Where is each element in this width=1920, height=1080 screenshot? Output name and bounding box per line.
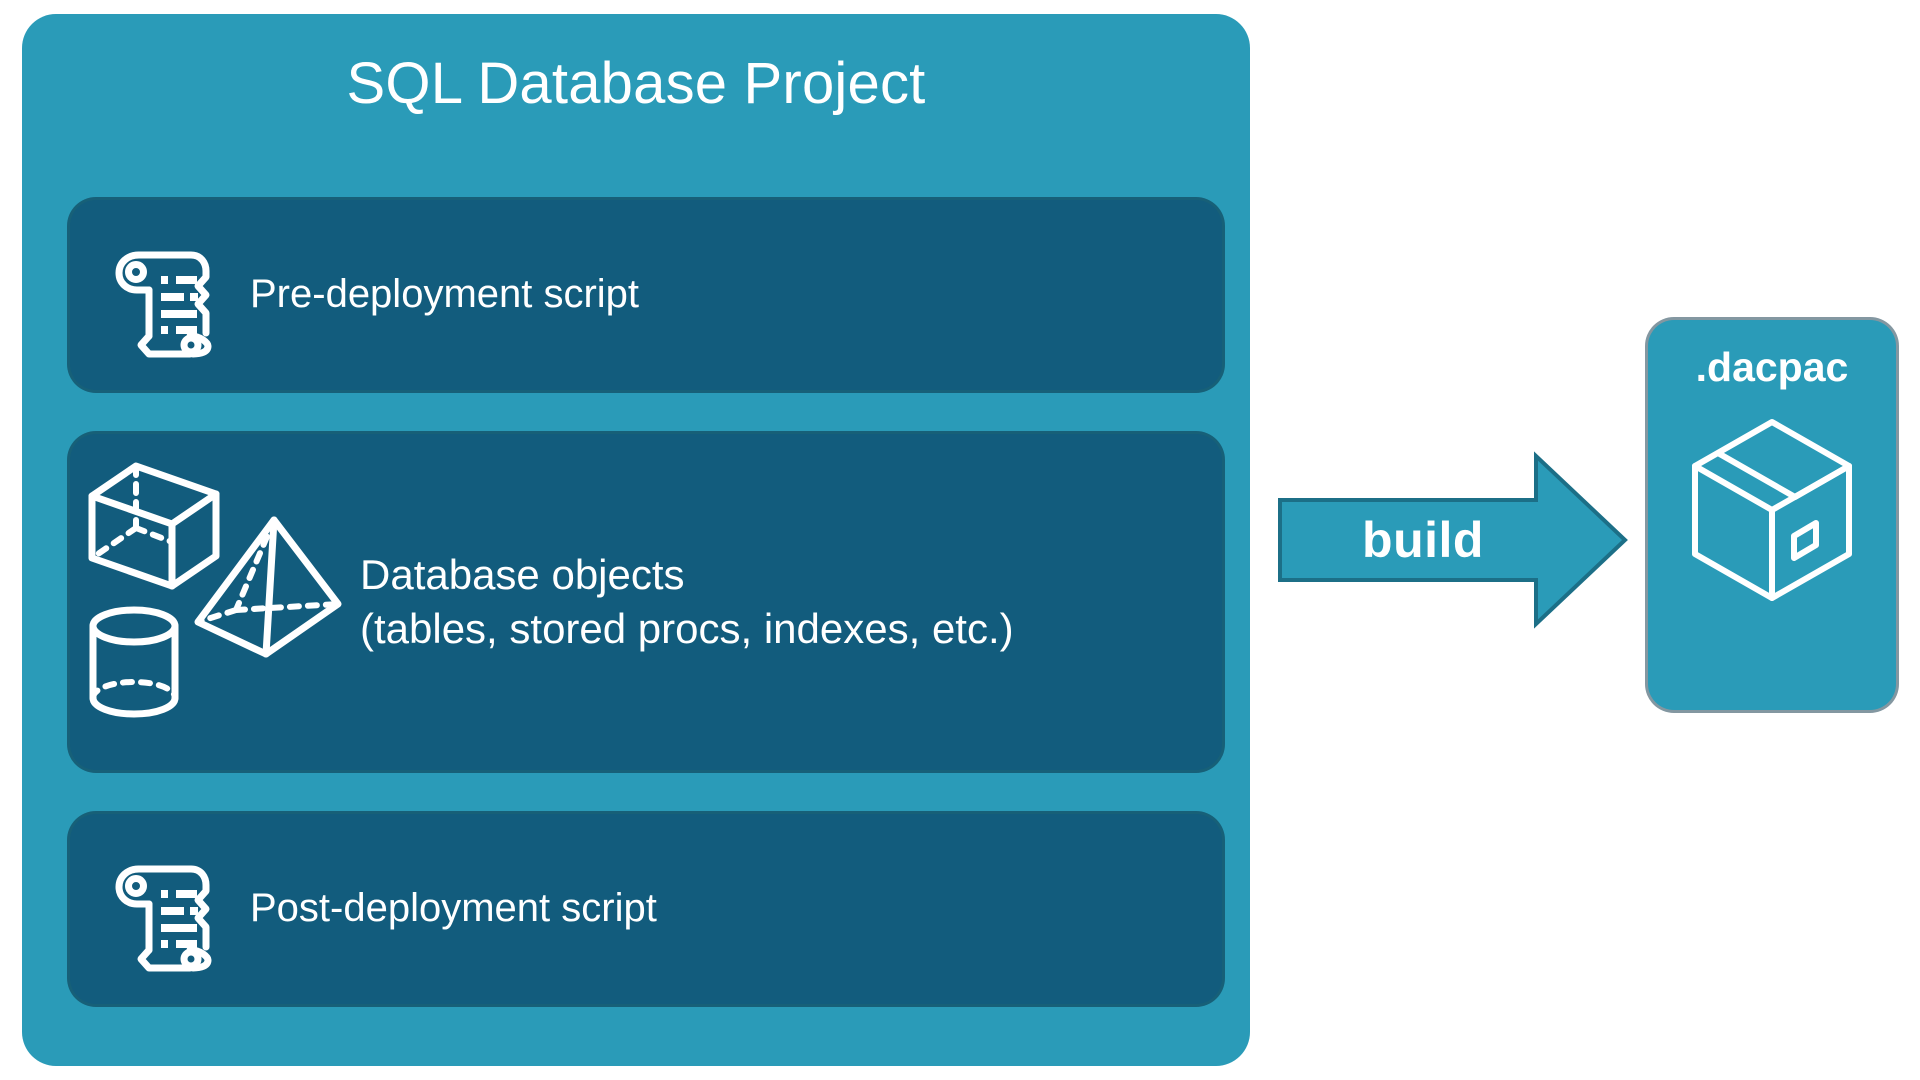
build-arrow-icon bbox=[1278, 452, 1628, 628]
pyramid-wireframe-icon bbox=[190, 512, 345, 662]
pre-deployment-script-card[interactable]: Pre-deployment script bbox=[70, 200, 1222, 390]
pre-deployment-icon-group bbox=[70, 233, 250, 358]
scroll-icon bbox=[105, 233, 215, 358]
diagram-canvas: SQL Database Project bbox=[0, 0, 1920, 1080]
dacpac-output-panel: .dacpac bbox=[1648, 320, 1896, 710]
cylinder-wireframe-icon bbox=[86, 602, 182, 722]
sql-database-project-panel: SQL Database Project bbox=[22, 14, 1250, 1066]
arrow-shape bbox=[1280, 456, 1625, 624]
package-box-icon bbox=[1687, 414, 1857, 606]
post-deployment-icon-group bbox=[70, 847, 250, 972]
post-deployment-script-label: Post-deployment script bbox=[250, 883, 657, 934]
pre-deployment-script-label: Pre-deployment script bbox=[250, 269, 639, 320]
database-objects-icon-group bbox=[70, 434, 360, 770]
database-objects-card[interactable]: Database objects (tables, stored procs, … bbox=[70, 434, 1222, 770]
project-title: SQL Database Project bbox=[22, 52, 1250, 116]
post-deployment-script-card[interactable]: Post-deployment script bbox=[70, 814, 1222, 1004]
scroll-icon bbox=[105, 847, 215, 972]
dacpac-title: .dacpac bbox=[1648, 344, 1896, 391]
database-objects-label: Database objects (tables, stored procs, … bbox=[360, 548, 1014, 656]
